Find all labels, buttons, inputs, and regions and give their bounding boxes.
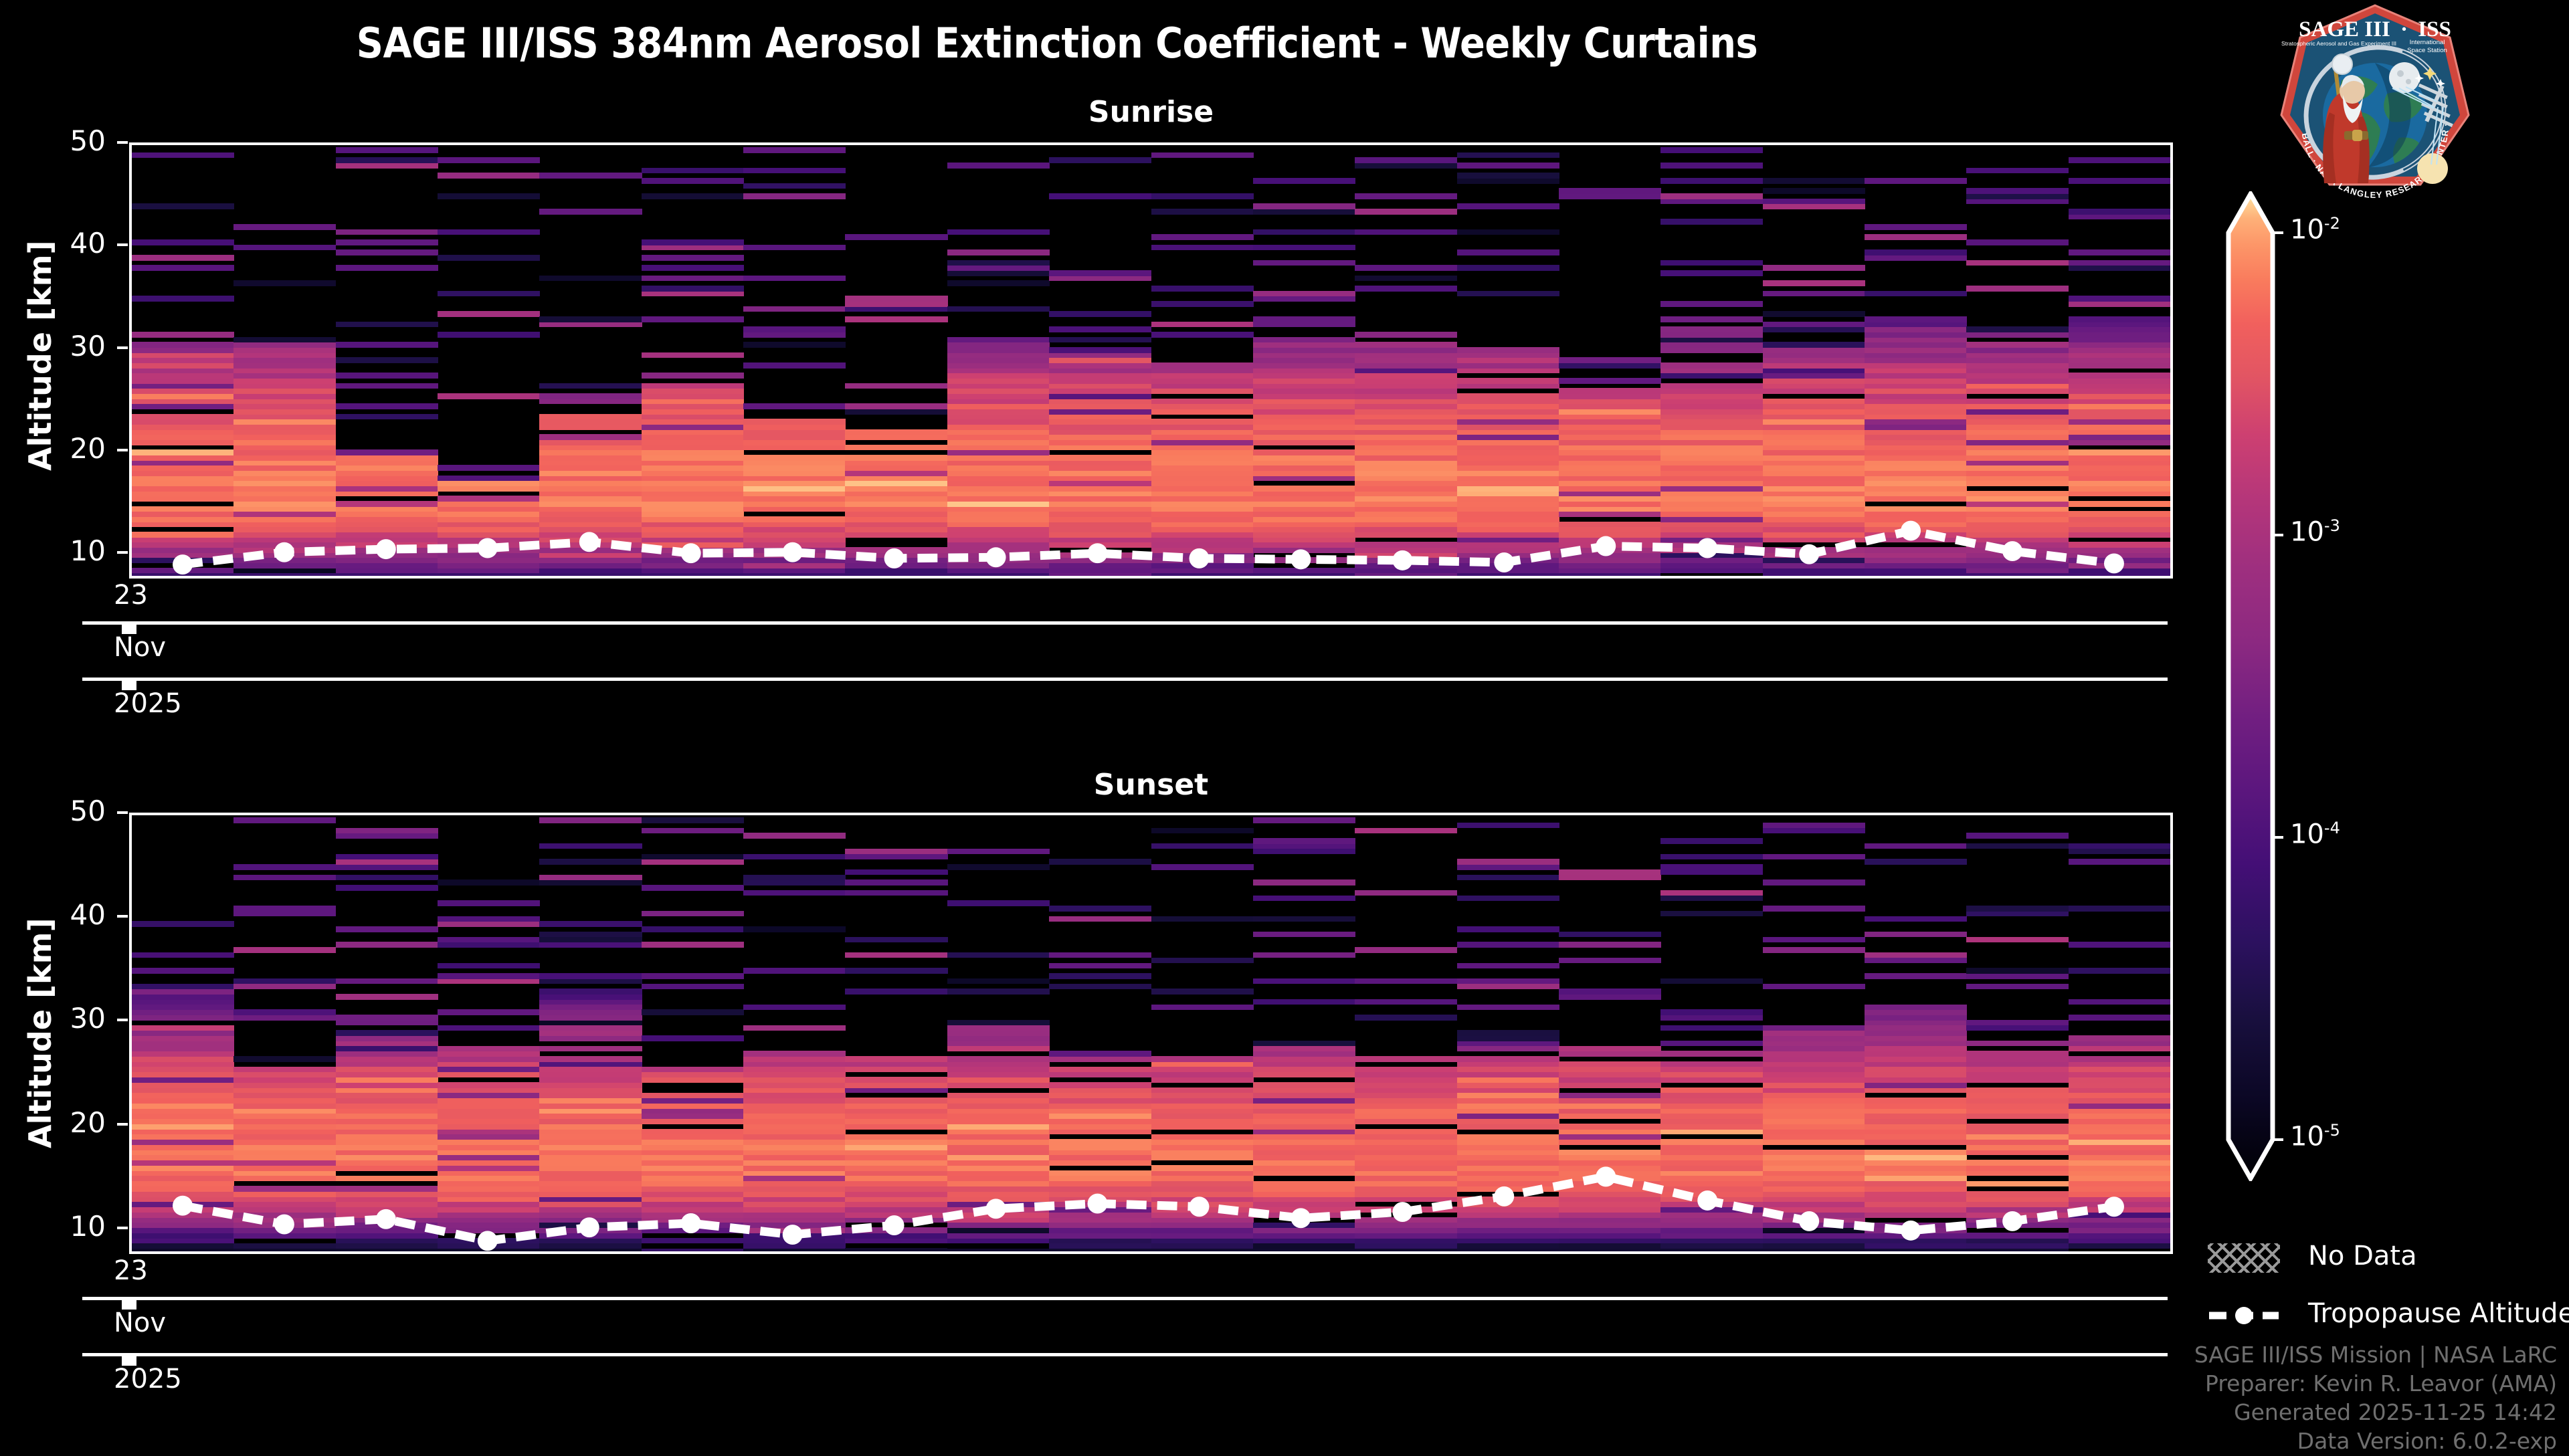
tropopause-marker: [783, 542, 803, 562]
colorbar-tick-mark: [2271, 1138, 2283, 1141]
colorbar-tick-label: 10-4: [2290, 819, 2340, 849]
patch-subtitle-right-2: Space Station: [2407, 47, 2447, 54]
tropopause-marker: [478, 538, 498, 558]
tropopause-marker: [1190, 1197, 1210, 1217]
patch-subtitle-left: Stratospheric Aerosol and Gas Experiment…: [2281, 40, 2396, 47]
y-axis-tick-mark: [117, 141, 128, 144]
x-axis-level-separator: [82, 678, 2168, 681]
x-axis-year-label: 2025: [114, 1364, 182, 1394]
tropopause-marker: [1697, 538, 1717, 558]
plot-sunrise[interactable]: [129, 142, 2173, 579]
legend: No Data Tropopause Altitude: [2208, 1241, 2556, 1356]
y-axis-tick-mark: [117, 915, 128, 918]
y-axis-tick-mark: [117, 1123, 128, 1126]
tropopause-marker: [2104, 1197, 2124, 1217]
x-axis-year-label: 2025: [114, 688, 182, 719]
tropopause-marker: [1697, 1190, 1717, 1211]
y-axis-tick-label: 30: [29, 330, 106, 362]
tropopause-marker: [1799, 1211, 1819, 1231]
tropopause-marker: [274, 1215, 294, 1235]
tropopause-marker: [2002, 1211, 2022, 1231]
tropopause-marker: [173, 1196, 193, 1216]
tropopause-marker: [579, 532, 599, 552]
tropopause-marker: [1392, 1202, 1412, 1222]
y-axis-tick-label: 40: [29, 898, 106, 931]
tropopause-marker: [1088, 1194, 1108, 1214]
tropopause-marker: [478, 1231, 498, 1251]
x-axis-level-separator: [82, 1353, 2168, 1356]
tropopause-marker: [1392, 550, 1412, 570]
tropopause-marker: [376, 1209, 396, 1229]
tropopause-polyline: [183, 531, 2114, 564]
tropopause-marker: [1901, 521, 1921, 541]
plot-sunset[interactable]: [129, 813, 2173, 1254]
footer-line-generated: Generated 2025-11-25 14:42: [2194, 1398, 2557, 1427]
legend-label-no-data: No Data: [2308, 1241, 2417, 1271]
tropopause-marker: [681, 1213, 701, 1233]
colorbar-tick-exponent: -3: [2324, 516, 2340, 535]
y-axis-tick-mark: [117, 346, 128, 349]
sage-iii-iss-mission-patch: BALL · NASA LANGLEY RESEARCH CENTER · TA…: [2275, 0, 2475, 201]
tropopause-line-sunset: [132, 815, 2170, 1251]
x-axis-day-label: 23: [114, 1255, 148, 1286]
colorbar-tick-mantissa: 10: [2290, 516, 2324, 547]
footer-line-preparer: Preparer: Kevin R. Leavor (AMA): [2194, 1370, 2557, 1398]
tropopause-polyline: [183, 1176, 2114, 1241]
y-axis-tick-label: 30: [29, 1002, 106, 1035]
tropopause-marker: [1494, 1186, 1514, 1207]
tropopause-marker: [376, 539, 396, 559]
footer-credits: SAGE III/ISS Mission | NASA LaRC Prepare…: [2194, 1341, 2557, 1456]
y-axis-tick-label: 10: [29, 1210, 106, 1243]
x-axis-level-separator: [82, 621, 2168, 625]
colorbar-tick-exponent: -5: [2324, 1121, 2340, 1140]
tropopause-marker: [1596, 536, 1616, 556]
tropopause-marker: [1799, 544, 1819, 564]
colorbar-tick-label: 10-5: [2290, 1121, 2340, 1152]
y-axis-tick-label: 50: [29, 124, 106, 157]
tropopause-marker: [986, 547, 1006, 567]
legend-item-no-data: No Data: [2208, 1241, 2556, 1275]
svg-text:SAGE III · ISS: SAGE III · ISS: [2299, 17, 2451, 41]
x-axis-level-separator: [82, 1297, 2168, 1300]
patch-subtitle-right-1: International: [2410, 39, 2445, 46]
panel-title-sunset: Sunset: [129, 768, 2173, 802]
tropopause-marker: [274, 542, 294, 562]
colorbar-tick-mark: [2271, 231, 2283, 234]
x-axis-month-label: Nov: [114, 1308, 166, 1338]
patch-title: SAGE III: [2299, 17, 2390, 41]
y-axis-tick-label: 10: [29, 534, 106, 567]
x-axis-day-label: 23: [114, 580, 148, 611]
figure-canvas: SAGE III/ISS 384nm Aerosol Extinction Co…: [0, 0, 2569, 1445]
colorbar-tick-mantissa: 10: [2290, 1121, 2324, 1152]
colorbar[interactable]: 10-210-310-410-5: [2224, 191, 2277, 1181]
tropopause-marker: [1596, 1166, 1616, 1186]
tropopause-marker: [884, 1215, 905, 1235]
tropopause-marker: [681, 543, 701, 563]
patch-separator: ·: [2400, 17, 2408, 41]
footer-line-version: Data Version: 6.0.2-exp: [2194, 1427, 2557, 1456]
tropopause-marker: [2002, 541, 2022, 561]
tropopause-marker: [1494, 552, 1514, 573]
tropopause-marker: [783, 1225, 803, 1245]
y-axis-tick-label: 20: [29, 1106, 106, 1139]
colorbar-tick-mark: [2271, 534, 2283, 536]
colorbar-tick-label: 10-2: [2290, 214, 2340, 245]
dashed-line-marker-icon: [2208, 1301, 2280, 1330]
colorbar-tick-label: 10-3: [2290, 516, 2340, 547]
colorbar-tick-exponent: -2: [2324, 214, 2340, 233]
panel-title-sunrise: Sunrise: [129, 95, 2173, 129]
legend-label-tropopause: Tropopause Altitude: [2308, 1298, 2569, 1329]
tropopause-marker: [1291, 1208, 1311, 1228]
tropopause-marker: [1901, 1221, 1921, 1241]
tropopause-marker: [2104, 553, 2124, 573]
patch-title2: ISS: [2418, 17, 2451, 41]
y-axis-tick-mark: [117, 1019, 128, 1021]
page-title: SAGE III/ISS 384nm Aerosol Extinction Co…: [0, 19, 2114, 68]
tropopause-marker: [173, 554, 193, 575]
colorbar-tick-mark: [2271, 836, 2283, 839]
colorbar-tick-exponent: -4: [2324, 819, 2340, 837]
tropopause-marker: [1190, 548, 1210, 568]
y-axis-tick-mark: [117, 449, 128, 451]
y-axis-tick-mark: [117, 243, 128, 246]
hatch-swatch-icon: [2208, 1243, 2280, 1273]
tropopause-marker: [1291, 549, 1311, 569]
footer-line-mission: SAGE III/ISS Mission | NASA LaRC: [2194, 1341, 2557, 1370]
tropopause-marker: [1088, 543, 1108, 563]
x-axis-month-label: Nov: [114, 632, 166, 663]
colorbar-tick-mantissa: 10: [2290, 214, 2324, 245]
mission-patch-svg: BALL · NASA LANGLEY RESEARCH CENTER · TA…: [2275, 0, 2475, 201]
tropopause-marker: [579, 1217, 599, 1237]
y-axis-tick-label: 40: [29, 227, 106, 259]
tropopause-line-sunrise: [132, 145, 2170, 576]
y-axis-tick-label: 50: [29, 795, 106, 827]
legend-item-tropopause: Tropopause Altitude: [2208, 1298, 2556, 1333]
tropopause-marker: [986, 1199, 1006, 1219]
y-axis-tick-mark: [117, 1227, 128, 1229]
tropopause-marker: [884, 548, 905, 568]
y-axis-tick-mark: [117, 551, 128, 554]
colorbar-tick-mantissa: 10: [2290, 819, 2324, 849]
y-axis-tick-label: 20: [29, 432, 106, 465]
y-axis-tick-mark: [117, 811, 128, 814]
colorbar-svg: [2224, 191, 2277, 1181]
